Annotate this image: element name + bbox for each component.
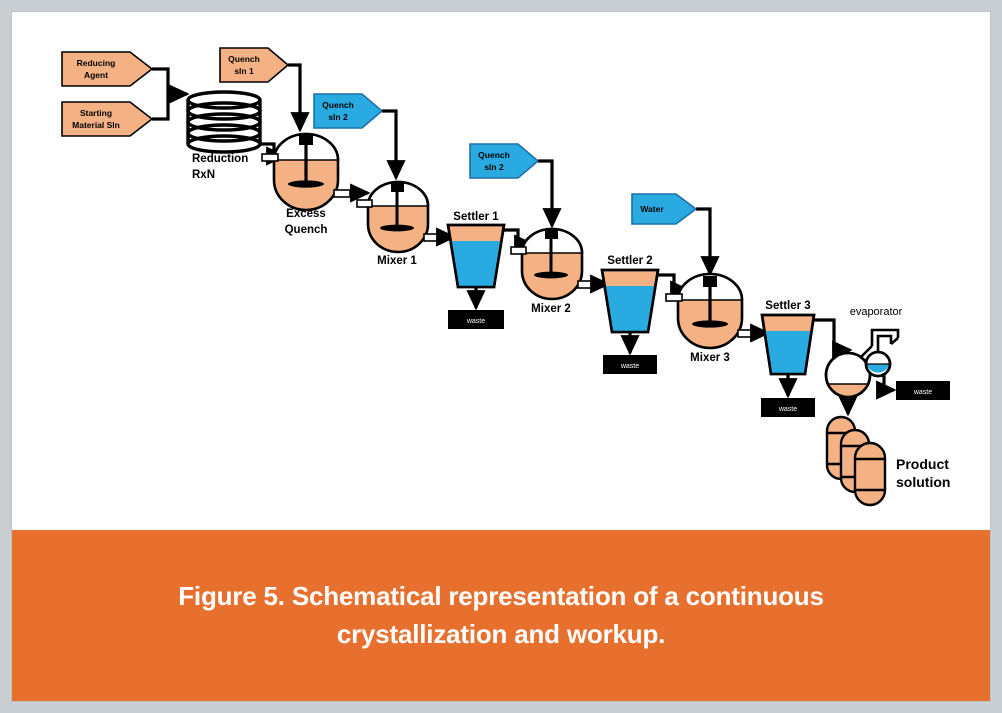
feed-label-line2: Material Sln (72, 120, 120, 130)
settler-3-label: Settler 3 (765, 300, 810, 312)
unit-settler-1[interactable] (448, 225, 504, 287)
unit-settler-3[interactable] (762, 315, 814, 374)
feed-label-line1: Reducing (77, 58, 116, 68)
feed-label-line2: Agent (84, 70, 108, 80)
waste-label: waste (620, 363, 639, 370)
unit-label-line1: Excess (286, 208, 326, 220)
feed-reducing-agent[interactable]: Reducing Agent (62, 52, 152, 86)
quench1-to-reactor-line (288, 65, 300, 130)
waste-label: waste (466, 318, 485, 325)
feed-label-line1: Quench (322, 100, 354, 110)
feed-label-line2: sln 2 (484, 162, 504, 172)
waste-box-settler-3: waste (761, 398, 815, 417)
feed-label-line2: sln 2 (328, 112, 348, 122)
unit-label-line2: Quench (285, 224, 328, 236)
unit-settler-2[interactable] (602, 270, 658, 332)
unit-label-line2: RxN (192, 169, 215, 181)
settler-2-label: Settler 2 (607, 255, 652, 267)
feed-quench-sln-2-a[interactable]: Quench sln 2 (314, 94, 382, 128)
caption-line-1: Figure 5. Schematical representation of … (178, 581, 824, 611)
diagram-canvas: Reducing Agent Starting Material Sln Que… (12, 12, 990, 530)
feed-manifold-lines (152, 69, 187, 119)
unit-mixer-3[interactable] (666, 274, 754, 348)
waste-box-evaporator: waste (896, 381, 950, 400)
quench2a-to-mixer1-line (382, 111, 396, 178)
product-label-line1: Product (896, 456, 949, 472)
feed-starting-material[interactable]: Starting Material Sln (62, 102, 152, 136)
evaporator-label: evaporator (850, 306, 903, 318)
waste-label: waste (913, 389, 932, 396)
feed-label-line1: Quench (228, 54, 260, 64)
figure-caption: Figure 5. Schematical representation of … (101, 578, 901, 653)
water-to-mixer3-line (696, 209, 710, 274)
waste-label: waste (778, 406, 797, 413)
product-label-line2: solution (896, 474, 950, 490)
excess-quench-label: Excess Quench (285, 208, 328, 236)
unit-product-drums[interactable] (827, 417, 885, 505)
feed-quench-sln-2-b[interactable]: Quench sln 2 (470, 144, 538, 178)
product-solution-label: Product solution (896, 456, 950, 490)
feed-label-line1: Starting (80, 108, 112, 118)
mixer-3-label: Mixer 3 (690, 352, 730, 364)
mixer-2-label: Mixer 2 (531, 303, 571, 315)
caption-line-2: crystallization and workup. (337, 619, 665, 649)
feed-water[interactable]: Water (632, 194, 696, 224)
unit-label-line1: Reduction (192, 153, 248, 165)
mixer-1-label: Mixer 1 (377, 255, 417, 267)
quench2b-to-mixer2-line (538, 161, 552, 226)
process-flow-diagram: Reducing Agent Starting Material Sln Que… (12, 12, 990, 530)
figure-page: Reducing Agent Starting Material Sln Que… (12, 12, 990, 701)
reduction-coil-unit[interactable] (188, 92, 260, 152)
evaporator-waste-line (884, 373, 894, 390)
figure-caption-banner: Figure 5. Schematical representation of … (12, 530, 990, 701)
feed-label-line1: Water (640, 204, 664, 214)
settler-1-label: Settler 1 (453, 211, 499, 223)
settler3-to-evaporator-line (814, 320, 850, 350)
waste-box-settler-1: waste (448, 310, 504, 329)
unit-evaporator[interactable] (826, 330, 898, 397)
feed-label-line1: Quench (478, 150, 510, 160)
feed-label-line2: sln 1 (234, 66, 254, 76)
unit-mixer-1[interactable] (357, 182, 439, 252)
unit-mixer-2[interactable] (511, 229, 593, 299)
waste-box-settler-2: waste (603, 355, 657, 374)
reduction-coil-label: Reduction RxN (192, 153, 248, 181)
feed-quench-sln-1[interactable]: Quench sln 1 (220, 48, 288, 82)
